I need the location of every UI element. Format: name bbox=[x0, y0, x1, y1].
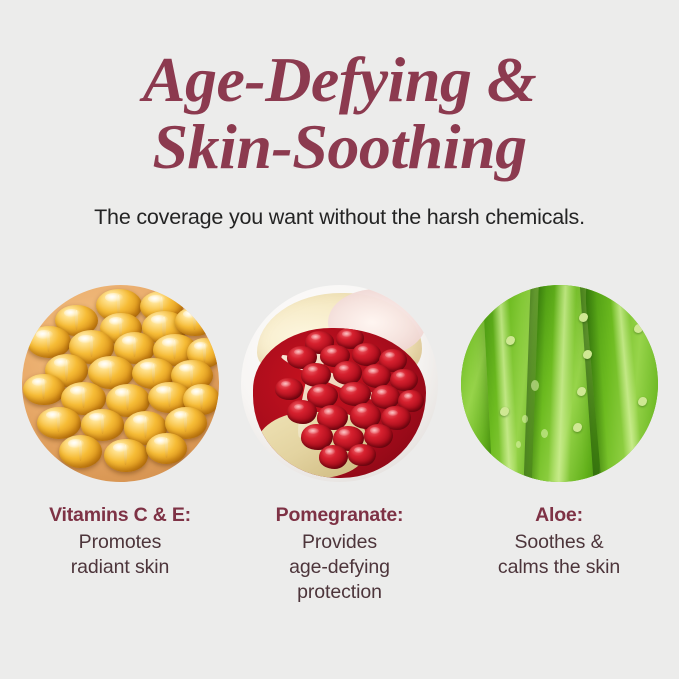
pomegranate-fruit-photo bbox=[241, 285, 438, 482]
ingredient-description: Promotes radiant skin bbox=[18, 530, 223, 580]
vitamin-softgel-capsules-photo bbox=[22, 285, 219, 482]
ingredient-columns: Vitamins C & E: Promotes radiant skin bbox=[0, 285, 679, 605]
headline-line-1: Age-Defying & bbox=[0, 46, 679, 113]
description-line: Soothes & bbox=[457, 530, 662, 555]
headline-line-2: Skin-Soothing bbox=[0, 113, 679, 180]
ingredient-description: Provides age-defying protection bbox=[237, 530, 442, 605]
description-line: radiant skin bbox=[18, 555, 223, 580]
aloe-vera-leaves-photo bbox=[461, 285, 658, 482]
ingredient-column-pomegranate: Pomegranate: Provides age-defying protec… bbox=[240, 285, 440, 605]
ingredient-caption-pomegranate: Pomegranate: Provides age-defying protec… bbox=[237, 503, 442, 605]
ingredient-title: Vitamins C & E: bbox=[18, 503, 223, 528]
page-subtitle: The coverage you want without the harsh … bbox=[0, 203, 679, 231]
description-line: Promotes bbox=[18, 530, 223, 555]
description-line: protection bbox=[237, 580, 442, 605]
ingredient-title: Aloe: bbox=[457, 503, 662, 528]
ingredient-column-vitamins: Vitamins C & E: Promotes radiant skin bbox=[20, 285, 220, 605]
description-line: age-defying bbox=[237, 555, 442, 580]
ingredient-caption-vitamins: Vitamins C & E: Promotes radiant skin bbox=[18, 503, 223, 580]
ingredient-caption-aloe: Aloe: Soothes & calms the skin bbox=[457, 503, 662, 580]
ingredient-column-aloe: Aloe: Soothes & calms the skin bbox=[459, 285, 659, 605]
marketing-infographic: Age-Defying & Skin-Soothing The coverage… bbox=[0, 0, 679, 679]
description-line: Provides bbox=[237, 530, 442, 555]
description-line: calms the skin bbox=[457, 555, 662, 580]
page-headline: Age-Defying & Skin-Soothing bbox=[0, 46, 679, 180]
ingredient-description: Soothes & calms the skin bbox=[457, 530, 662, 580]
ingredient-title: Pomegranate: bbox=[237, 503, 442, 528]
